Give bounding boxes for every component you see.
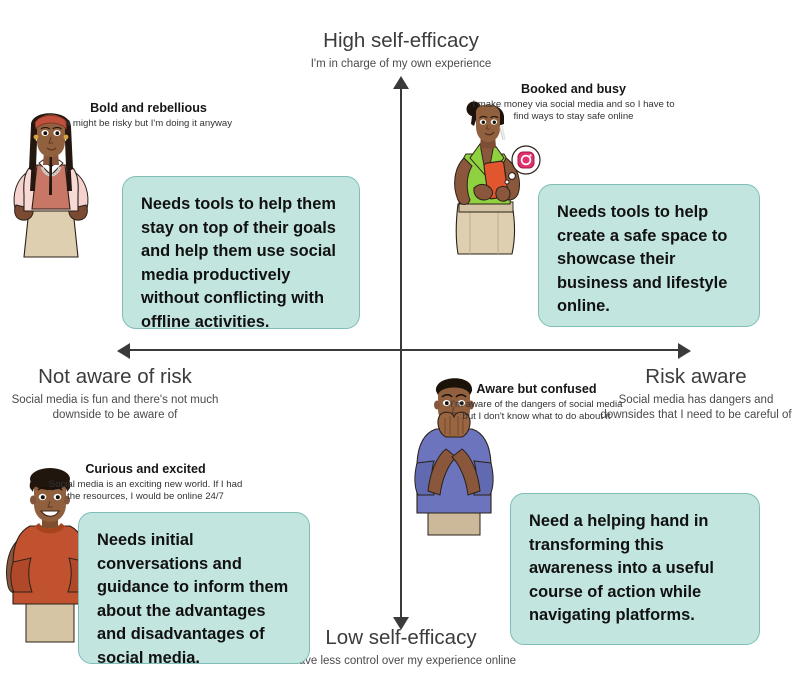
axis-label-left: Not aware of risk Social media is fun an… <box>10 364 220 423</box>
persona-name-bold-and-rebellious: Bold and rebellious <box>56 100 241 116</box>
quadrant-diagram: High self-efficacy I'm in charge of my o… <box>0 0 800 687</box>
persona-name-aware-but-confused: Aware but confused <box>449 381 624 397</box>
persona-label-aware-but-confused: Aware but confused I'm aware of the dang… <box>449 381 624 424</box>
axis-label-top-title: High self-efficacy <box>261 28 541 53</box>
axis-label-top-subtitle: I'm in charge of my own experience <box>261 57 541 72</box>
axis-label-top: High self-efficacy I'm in charge of my o… <box>261 28 541 72</box>
persona-quote-booked-and-busy: I make money via social media and so I h… <box>466 99 681 124</box>
persona-label-bold-and-rebellious: Bold and rebellious It might be risky bu… <box>56 100 241 130</box>
callout-curious-and-excited: Needs initial conversations and guidance… <box>78 512 310 664</box>
axis-label-right: Risk aware Social media has dangers and … <box>596 364 796 423</box>
persona-name-curious-and-excited: Curious and excited <box>48 461 243 477</box>
vertical-axis-line <box>400 86 402 620</box>
persona-label-booked-and-busy: Booked and busy I make money via social … <box>466 81 681 124</box>
horizontal-axis-line <box>128 349 680 351</box>
persona-quote-aware-but-confused: I'm aware of the dangers of social media… <box>449 399 624 424</box>
axis-label-right-title: Risk aware <box>596 364 796 389</box>
arrow-up-icon <box>393 76 409 89</box>
callout-aware-but-confused: Need a helping hand in transforming this… <box>510 493 760 645</box>
callout-booked-and-busy: Needs tools to help create a safe space … <box>538 184 760 327</box>
persona-label-curious-and-excited: Curious and excited Social media is an e… <box>48 461 243 504</box>
axis-label-left-title: Not aware of risk <box>10 364 220 389</box>
persona-name-booked-and-busy: Booked and busy <box>466 81 681 97</box>
callout-bold-and-rebellious: Needs tools to help them stay on top of … <box>122 176 360 329</box>
arrow-left-icon <box>117 343 130 359</box>
persona-quote-bold-and-rebellious: It might be risky but I'm doing it anywa… <box>56 118 241 130</box>
axis-label-left-subtitle: Social media is fun and there's not much… <box>10 393 220 423</box>
axis-label-right-subtitle: Social media has dangers and downsides t… <box>596 393 796 423</box>
persona-quote-curious-and-excited: Social media is an exciting new world. I… <box>48 479 243 504</box>
arrow-right-icon <box>678 343 691 359</box>
